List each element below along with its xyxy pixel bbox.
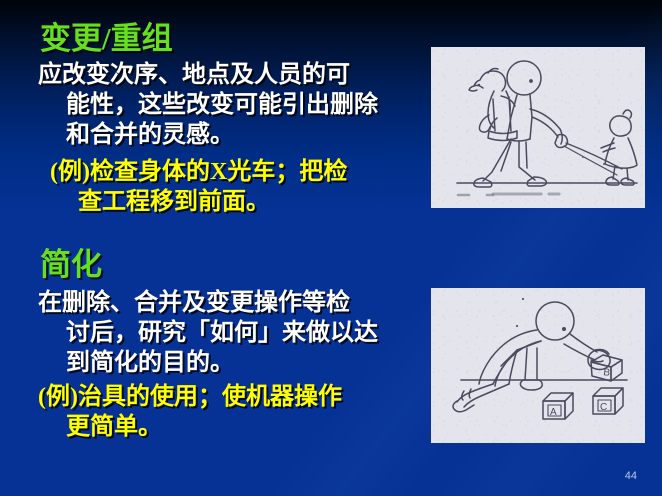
section-2-body-line-3: 到简化的目的。 — [38, 348, 378, 378]
section-2-body: 在删除、合并及变更操作等检 讨后，研究「如何」来做以达 到简化的目的。 — [38, 288, 378, 378]
section-1-body: 应改变次序、地点及人员的可 能性，这些改变可能引出删除 和合并的灵感。 — [38, 60, 378, 150]
block-label-c: C — [600, 402, 607, 413]
section-2-body-line-1: 在删除、合并及变更操作等检 — [38, 288, 378, 318]
section-1-heading: 变更/重组 — [40, 22, 173, 56]
section-2-example-line-2: 更简单。 — [38, 412, 342, 442]
page-number: 44 — [625, 470, 637, 482]
person-kneeling-with-lettered-blocks-drawing: B A C — [431, 288, 645, 443]
section-1-example: (例)检查身体的X光车；把检 查工程移到前面。 — [50, 157, 347, 217]
section-2-heading: 简化 — [40, 248, 102, 282]
text-column: 变更/重组 应改变次序、地点及人员的可 能性，这些改变可能引出删除 和合并的灵感… — [0, 0, 430, 496]
section-1-example-line-2: 查工程移到前面。 — [50, 187, 347, 217]
person-carrying-dog-pulling-child-drawing — [431, 47, 645, 208]
block-label-a: A — [550, 407, 557, 418]
section-1-example-line-1: (例)检查身体的X光车；把检 — [50, 157, 347, 187]
slide-canvas: 变更/重组 应改变次序、地点及人员的可 能性，这些改变可能引出删除 和合并的灵感… — [0, 0, 662, 496]
section-2-body-line-2: 讨后，研究「如何」来做以达 — [38, 318, 378, 348]
section-2-example: (例)治具的使用；使机器操作 更简单。 — [38, 382, 342, 442]
section-2-example-line-1: (例)治具的使用；使机器操作 — [38, 382, 342, 412]
section-1-body-line-1: 应改变次序、地点及人员的可 — [38, 60, 378, 90]
block-label-b: B — [603, 367, 611, 379]
section-1-body-line-3: 和合并的灵感。 — [38, 120, 378, 150]
illustration-simplify: B A C — [431, 288, 645, 443]
section-1-body-line-2: 能性，这些改变可能引出删除 — [38, 90, 378, 120]
illustration-change-rearrange — [431, 47, 645, 208]
